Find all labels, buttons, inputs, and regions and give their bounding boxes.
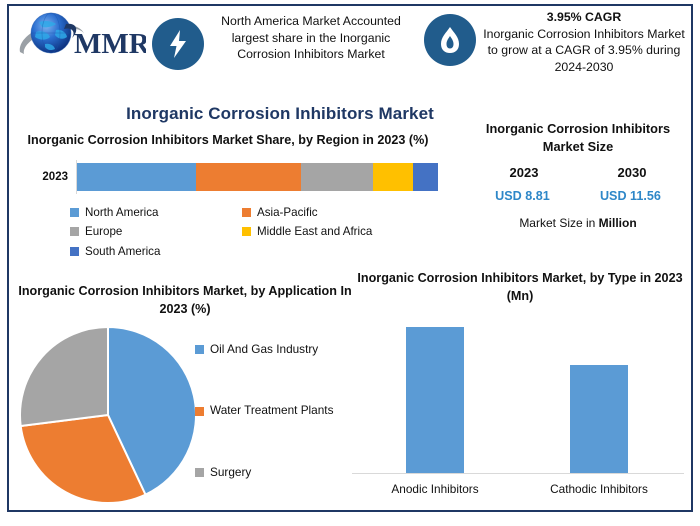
market-size-unit-note: Market Size in Million (470, 216, 686, 230)
region-segment-asia-pacific (196, 163, 301, 191)
legend-item-asia-pacific: Asia-Pacific (242, 204, 414, 221)
legend-swatch-icon (70, 227, 79, 236)
legend-item-south-america: South America (70, 243, 242, 260)
market-size-unit-prefix: Market Size in (519, 216, 598, 230)
legend-label: Water Treatment Plants (210, 402, 333, 420)
region-segment-south-america (413, 163, 438, 191)
legend-swatch-icon (70, 247, 79, 256)
type-share-chart: Inorganic Corrosion Inhibitors Market, b… (348, 270, 692, 500)
legend-label: Surgery (210, 464, 251, 482)
header-block-1-text: North America Market Accounted largest s… (204, 12, 412, 63)
legend-label: Europe (85, 223, 122, 240)
region-segment-middle-east-africa (373, 163, 413, 191)
region-share-chart: Inorganic Corrosion Inhibitors Market Sh… (18, 132, 438, 260)
pie-slice (20, 327, 108, 426)
flame-droplet-icon (424, 14, 476, 66)
application-chart-title: Inorganic Corrosion Inhibitors Market, b… (10, 283, 360, 319)
mmr-logo: MMR (14, 8, 146, 66)
type-bar-anodic-inhibitors (406, 327, 464, 472)
market-size-title: Inorganic Corrosion Inhibitors Market Si… (470, 120, 686, 156)
type-chart-x-labels: Anodic Inhibitors Cathodic Inhibitors (348, 482, 692, 500)
legend-item-oil-and-gas-industry: Oil And Gas Industry (195, 341, 365, 359)
legend-label: Oil And Gas Industry (210, 341, 318, 359)
region-bar-row: 2023 (18, 160, 438, 194)
cagr-description: Inorganic Corrosion Inhibitors Market to… (483, 27, 685, 74)
type-chart-axis (352, 473, 684, 474)
legend-swatch-icon (195, 468, 204, 477)
region-segment-north-america (77, 163, 196, 191)
lightning-bolt-icon (152, 18, 204, 70)
legend-item-water-treatment-plants: Water Treatment Plants (195, 402, 365, 420)
application-pie-svg (18, 325, 198, 505)
logo-wordmark: MMR (74, 28, 146, 60)
type-chart-plot (348, 314, 692, 474)
region-segment-europe (301, 163, 373, 191)
type-xlabel-cathodic: Cathodic Inhibitors (534, 482, 664, 496)
legend-swatch-icon (242, 208, 251, 217)
application-share-chart: Inorganic Corrosion Inhibitors Market, b… (10, 283, 360, 515)
header-block-2-text: 3.95% CAGR Inorganic Corrosion Inhibitor… (476, 8, 686, 75)
legend-item-surgery: Surgery (195, 464, 365, 482)
legend-swatch-icon (70, 208, 79, 217)
legend-item-north-america: North America (70, 204, 242, 221)
market-size-value-2030: USD 11.56 (600, 189, 661, 203)
market-size-value-2023: USD 8.81 (495, 189, 550, 203)
legend-label: North America (85, 204, 158, 221)
market-size-panel: Inorganic Corrosion Inhibitors Market Si… (470, 120, 686, 230)
region-chart-title: Inorganic Corrosion Inhibitors Market Sh… (18, 132, 438, 150)
market-size-year-2023: 2023 (510, 165, 539, 180)
legend-label: Asia-Pacific (257, 204, 318, 221)
type-bar-cathodic-inhibitors (570, 365, 628, 473)
cagr-headline: 3.95% CAGR (482, 9, 686, 26)
legend-item-europe: Europe (70, 223, 242, 240)
application-chart-legend: Oil And Gas Industry Water Treatment Pla… (195, 341, 365, 526)
header-block-cagr: 3.95% CAGR Inorganic Corrosion Inhibitor… (424, 8, 686, 75)
type-xlabel-anodic: Anodic Inhibitors (370, 482, 500, 496)
header-block-north-america: North America Market Accounted largest s… (152, 12, 412, 70)
legend-swatch-icon (195, 345, 204, 354)
legend-label: South America (85, 243, 160, 260)
region-stacked-bar (77, 163, 438, 191)
infographic-root: MMR North America Market Accounted large… (0, 0, 700, 516)
legend-item-middle-east-africa: Middle East and Africa (242, 223, 414, 240)
market-size-years: 2023 2030 (470, 165, 686, 180)
market-size-values: USD 8.81 USD 11.56 (470, 189, 686, 203)
market-size-year-2030: 2030 (618, 165, 647, 180)
legend-swatch-icon (242, 227, 251, 236)
market-size-unit-value: Million (599, 216, 637, 230)
legend-swatch-icon (195, 407, 204, 416)
type-chart-title: Inorganic Corrosion Inhibitors Market, b… (348, 270, 692, 306)
application-pie-area: Oil And Gas Industry Water Treatment Pla… (10, 325, 360, 515)
region-chart-legend: North America Asia-Pacific Europe Middle… (70, 204, 438, 260)
legend-label: Middle East and Africa (257, 223, 372, 240)
region-bar-category-label: 2023 (18, 171, 76, 183)
